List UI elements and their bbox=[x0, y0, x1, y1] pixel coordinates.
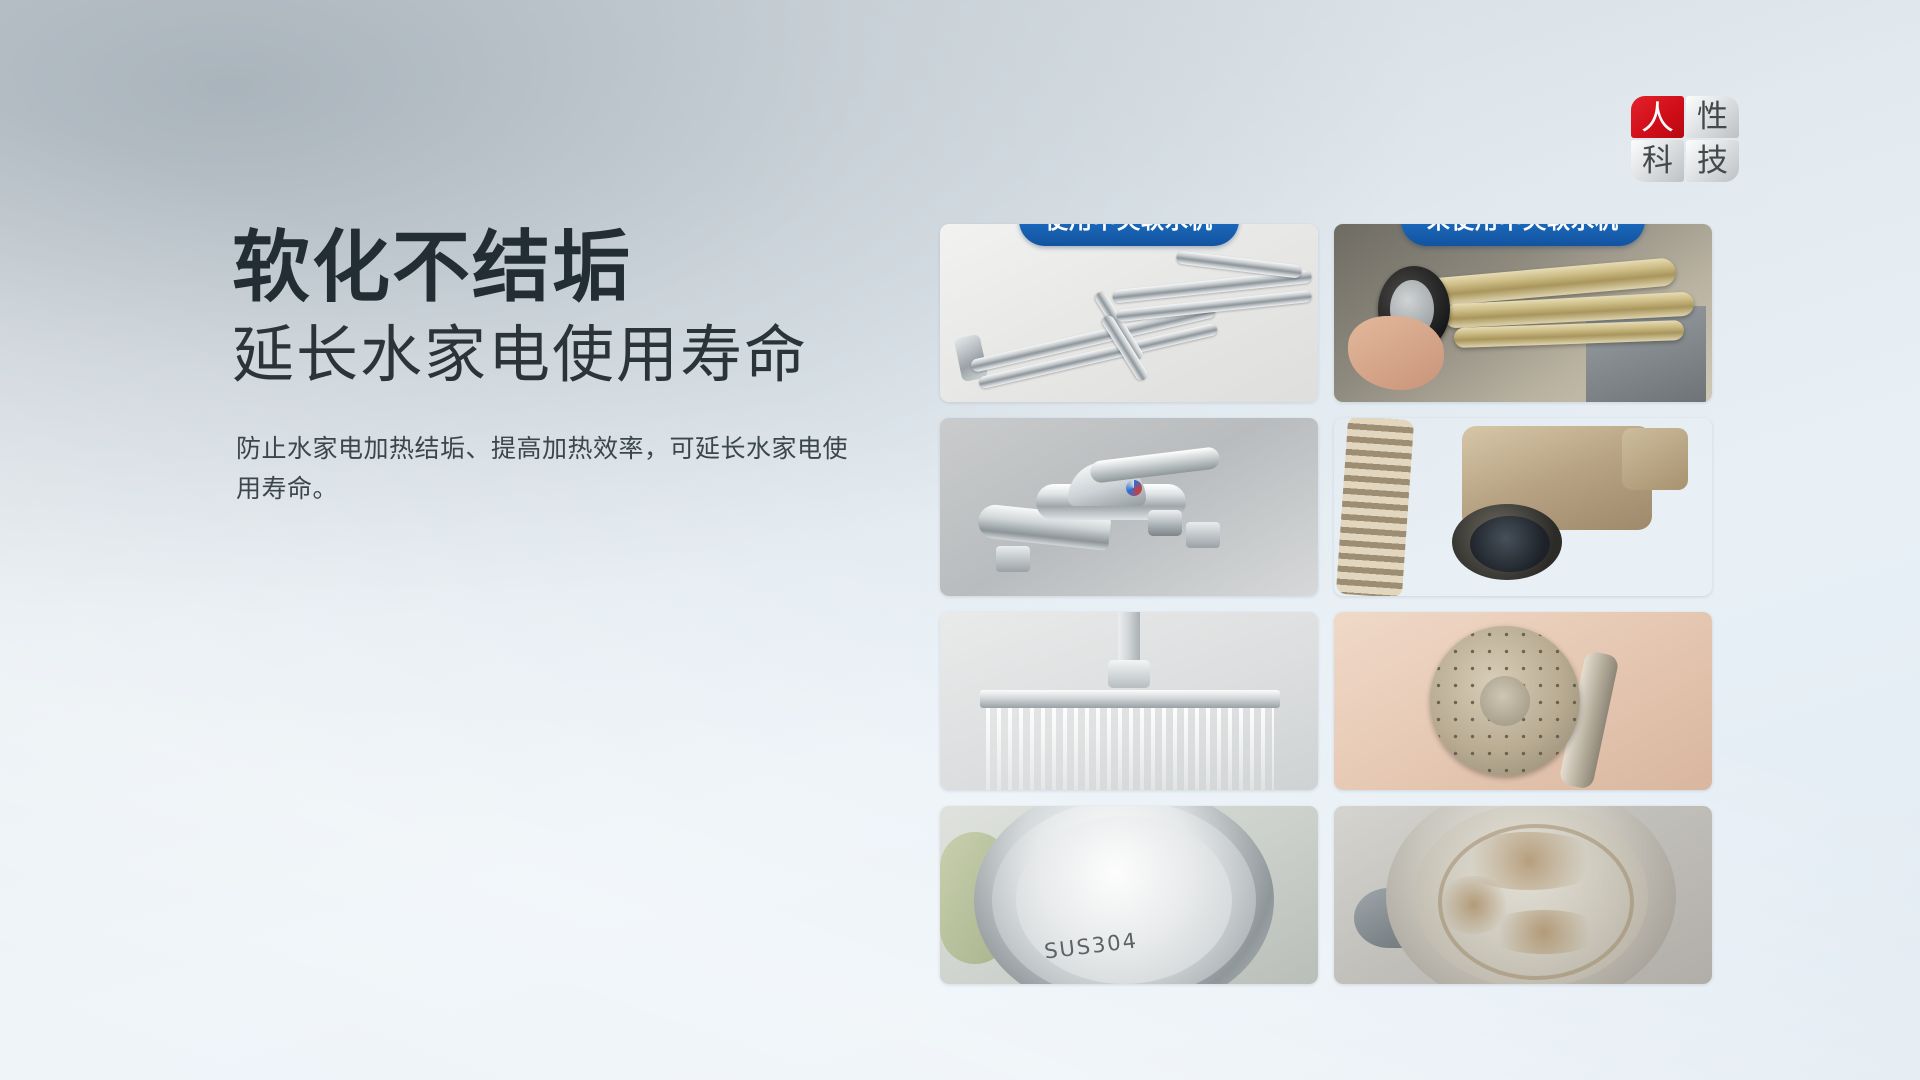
mixer-outlet-inner bbox=[1470, 516, 1550, 572]
logo-tile-ji: 技 bbox=[1686, 140, 1739, 182]
comparison-cell-good-2 bbox=[940, 418, 1318, 596]
photo-scaled-kettle bbox=[1334, 806, 1712, 984]
shower-joint bbox=[1108, 660, 1150, 688]
photo-clean-faucet bbox=[940, 418, 1318, 596]
water-stream bbox=[986, 708, 1274, 790]
photo-clean-shower bbox=[940, 612, 1318, 790]
comparison-grid: 使用中央软水机 未使用中央软水机 bbox=[940, 224, 1712, 984]
logo-tile-xing: 性 bbox=[1686, 96, 1739, 138]
comparison-cell-bad-1: 未使用中央软水机 bbox=[1334, 224, 1712, 402]
page-title: 软化不结垢 bbox=[232, 228, 892, 308]
badge-without-softener: 未使用中央软水机 bbox=[1401, 224, 1645, 246]
brand-logo: 人 性 科 技 bbox=[1631, 96, 1739, 182]
photo-scaled-heating-element bbox=[1334, 224, 1712, 402]
heater-tube bbox=[1176, 250, 1303, 278]
photo-clean-heating-element bbox=[940, 224, 1318, 402]
photo-scaled-shower-head bbox=[1334, 612, 1712, 790]
faucet-outlet bbox=[1148, 510, 1182, 536]
comparison-cell-bad-4 bbox=[1334, 806, 1712, 984]
logo-tile-ke: 科 bbox=[1631, 140, 1684, 182]
logo-tile-ren: 人 bbox=[1631, 96, 1684, 138]
comparison-cell-good-1: 使用中央软水机 bbox=[940, 224, 1318, 402]
faucet-foot bbox=[1186, 522, 1220, 548]
faucet-indicator-icon bbox=[1126, 480, 1142, 496]
description-text: 防止水家电加热结垢、提高加热效率，可延长水家电使用寿命。 bbox=[236, 429, 856, 510]
mixer-knob bbox=[1622, 428, 1688, 490]
copy-block: 软化不结垢 延长水家电使用寿命 防止水家电加热结垢、提高加热效率，可延长水家电使… bbox=[232, 228, 892, 510]
shower-hose bbox=[1336, 418, 1414, 596]
comparison-cell-bad-2 bbox=[1334, 418, 1712, 596]
limescale-stain bbox=[1438, 876, 1510, 934]
shower-head-bar bbox=[980, 690, 1280, 708]
comparison-cell-good-4: SUS304 bbox=[940, 806, 1318, 984]
photo-scaled-mixer bbox=[1334, 418, 1712, 596]
page-subtitle: 延长水家电使用寿命 bbox=[232, 318, 892, 391]
comparison-cell-bad-3 bbox=[1334, 612, 1712, 790]
comparison-cell-good-3 bbox=[940, 612, 1318, 790]
photo-clean-kettle: SUS304 bbox=[940, 806, 1318, 984]
shower-head-core bbox=[1480, 676, 1530, 726]
badge-with-softener: 使用中央软水机 bbox=[1019, 224, 1239, 246]
hand bbox=[1348, 316, 1444, 390]
faucet-foot bbox=[996, 546, 1030, 572]
faucet-lever bbox=[1089, 446, 1221, 484]
slide-root: 人 性 科 技 软化不结垢 延长水家电使用寿命 防止水家电加热结垢、提高加热效率… bbox=[0, 0, 1920, 1080]
